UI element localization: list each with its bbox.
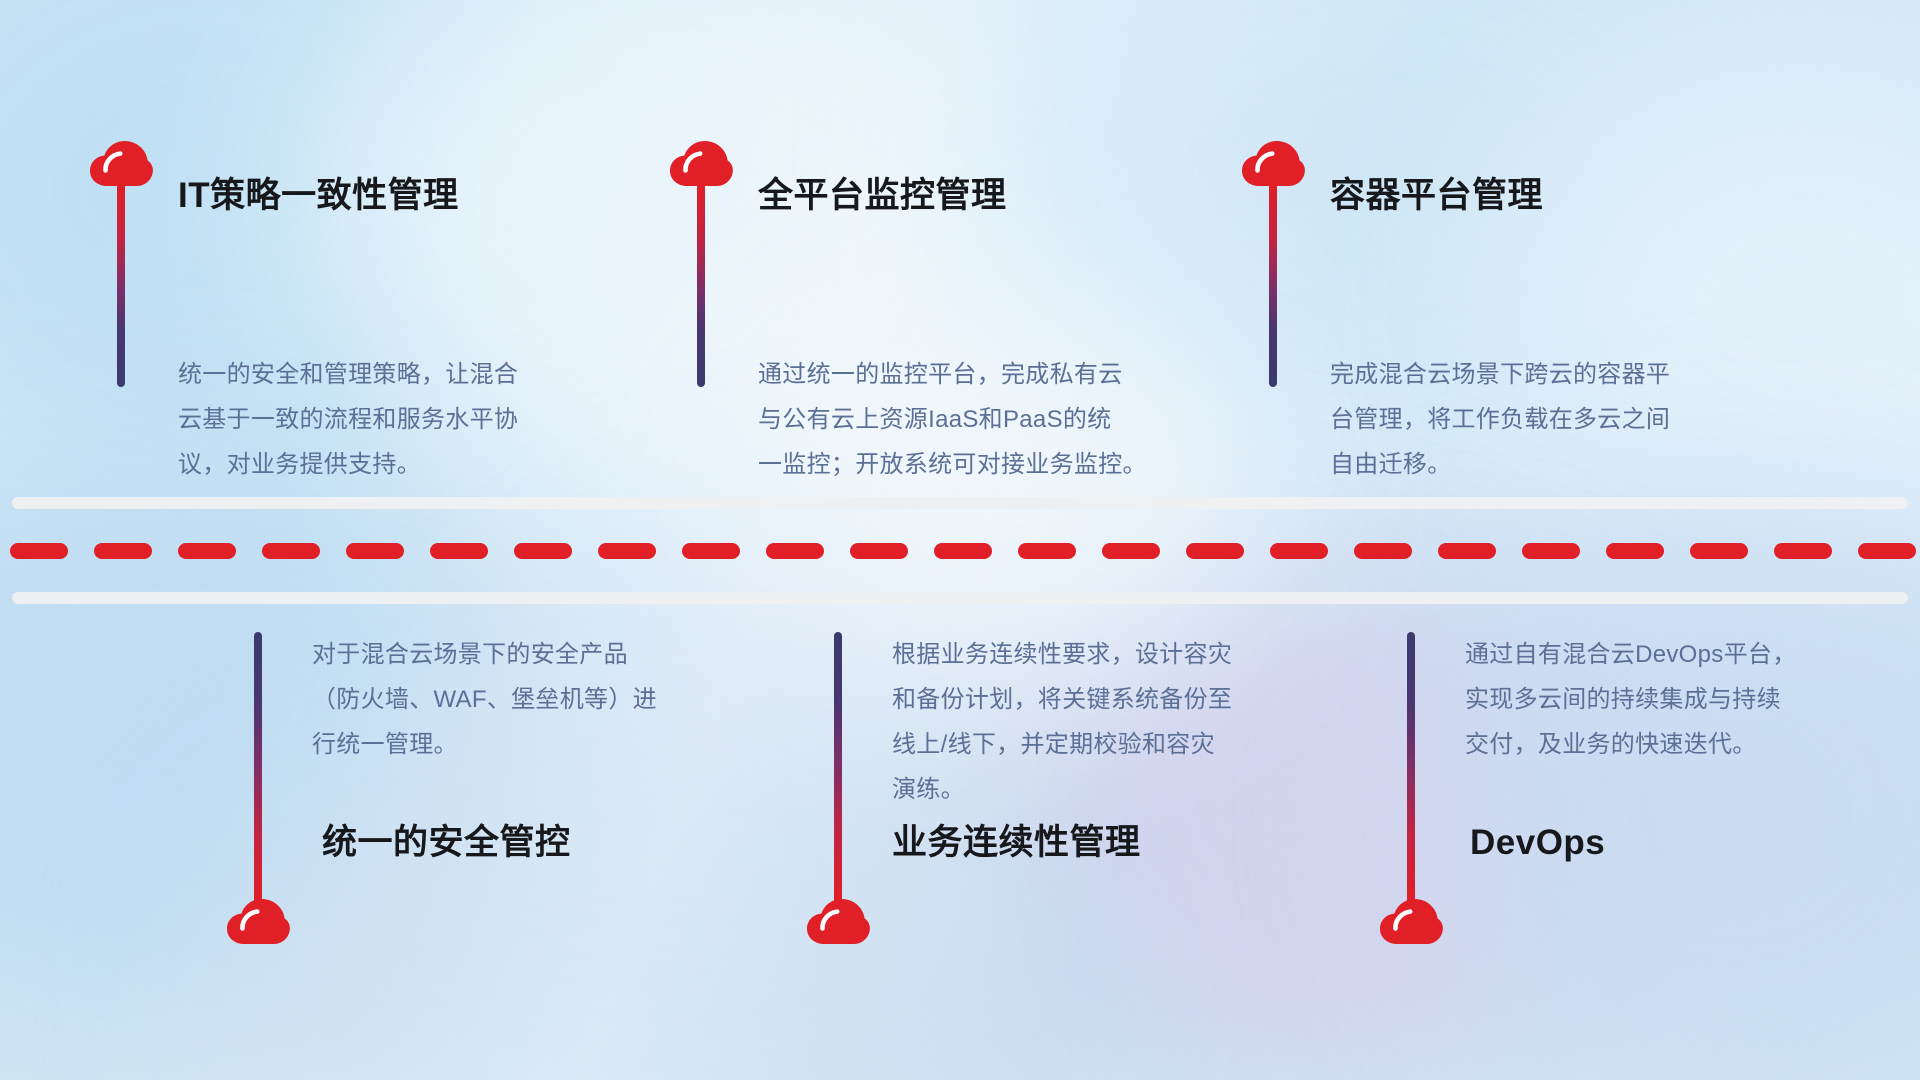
- bottom-body-3: 通过自有混合云DevOps平台， 实现多云间的持续集成与持续 交付，及业务的快速…: [1465, 632, 1895, 767]
- connector-line: [834, 632, 842, 904]
- dash-segment: [1690, 543, 1748, 559]
- top-title-1: IT策略一致性管理: [178, 178, 459, 213]
- dash-segment: [850, 543, 908, 559]
- connector-line: [1407, 632, 1415, 904]
- dash-segment: [1270, 543, 1328, 559]
- dash-segment: [1438, 543, 1496, 559]
- dash-segment: [1186, 543, 1244, 559]
- bottom-body-2: 根据业务连续性要求，设计容灾 和备份计划，将关键系统备份至 线上/线下，并定期校…: [892, 632, 1322, 812]
- bottom-body-1: 对于混合云场景下的安全产品 （防火墙、WAF、堡垒机等）进 行统一管理。: [312, 632, 742, 767]
- dash-segment: [430, 543, 488, 559]
- dash-segment: [1018, 543, 1076, 559]
- dash-segment: [766, 543, 824, 559]
- dash-segment: [1354, 543, 1412, 559]
- top-body-1: 统一的安全和管理策略，让混合 云基于一致的流程和服务水平协 议，对业务提供支持。: [178, 352, 608, 487]
- top-title-3: 容器平台管理: [1330, 178, 1543, 213]
- dash-segment: [1522, 543, 1580, 559]
- dash-segment: [934, 543, 992, 559]
- divider-bar-bottom: [12, 592, 1908, 604]
- top-title-2: 全平台监控管理: [758, 178, 1007, 213]
- top-body-2: 通过统一的监控平台，完成私有云 与公有云上资源IaaS和PaaS的统 一监控；开…: [758, 352, 1208, 487]
- divider-bar-top: [12, 497, 1908, 509]
- connector-line: [1269, 182, 1277, 387]
- bottom-title-2: 业务连续性管理: [892, 825, 1141, 860]
- connector-line: [697, 182, 705, 387]
- dash-segment: [10, 543, 68, 559]
- dash-segment: [1858, 543, 1916, 559]
- bottom-title-1: 统一的安全管控: [322, 825, 571, 860]
- dash-segment: [682, 543, 740, 559]
- connector-line: [117, 182, 125, 387]
- dash-segment: [1606, 543, 1664, 559]
- dash-segment: [514, 543, 572, 559]
- dash-segment: [178, 543, 236, 559]
- dash-segment: [1102, 543, 1160, 559]
- top-body-3: 完成混合云场景下跨云的容器平 台管理，将工作负载在多云之间 自由迁移。: [1330, 352, 1760, 487]
- infographic-canvas: IT策略一致性管理 统一的安全和管理策略，让混合 云基于一致的流程和服务水平协 …: [0, 0, 1920, 1080]
- connector-line: [254, 632, 262, 904]
- bottom-title-3: DevOps: [1470, 825, 1605, 860]
- dash-segment: [346, 543, 404, 559]
- dashed-boundary-line: [0, 543, 1920, 559]
- dash-segment: [598, 543, 656, 559]
- dash-segment: [94, 543, 152, 559]
- dash-segment: [262, 543, 320, 559]
- dash-segment: [1774, 543, 1832, 559]
